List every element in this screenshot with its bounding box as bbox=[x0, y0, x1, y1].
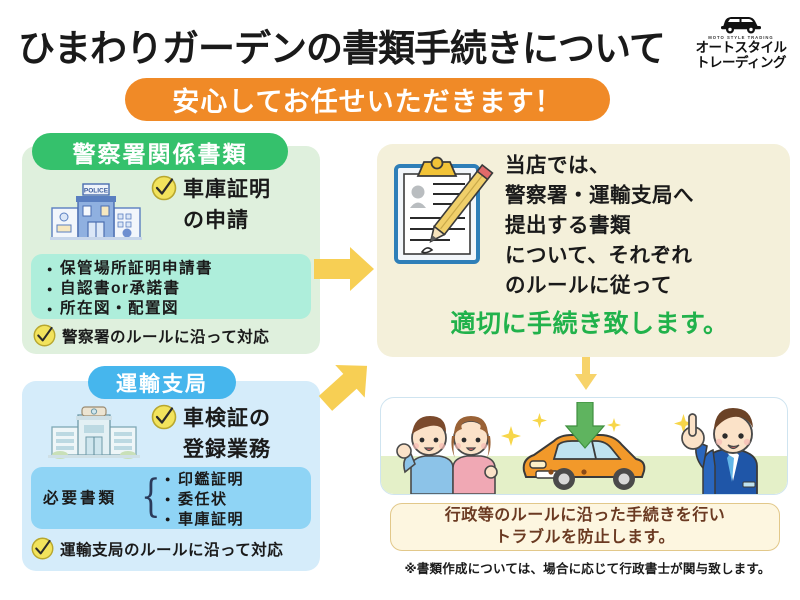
police-footer: 警察署のルールに沿って対応 bbox=[32, 323, 317, 348]
main-message-card: 当店では、 警察署・運輸支局へ 提出する書類 について、それぞれ のルールに従っ… bbox=[377, 144, 790, 357]
sparkle-icon bbox=[607, 418, 621, 432]
staff-man-icon bbox=[669, 404, 779, 495]
police-heading-line-1: 車庫証明 bbox=[183, 174, 271, 205]
result-line: 行政等のルールに沿った手続きを行い bbox=[445, 505, 726, 527]
list-item: 所在図・配置図 bbox=[47, 299, 311, 319]
transport-required-documents: 必要書類 { 印鑑証明 委任状 車庫証明 bbox=[31, 467, 311, 529]
header: ひまわりガーデンの書類手続きについて MOTO STYLE TRADING オー… bbox=[0, 0, 800, 128]
brace-decoration: { bbox=[141, 471, 161, 522]
result-line: トラブルを防止します。 bbox=[495, 527, 675, 549]
message-line: 警察署・運輸支局へ bbox=[505, 181, 787, 211]
message-text: 当店では、 警察署・運輸支局へ 提出する書類 について、それぞれ のルールに従っ… bbox=[505, 151, 787, 301]
check-circle-icon bbox=[30, 536, 55, 561]
logo-line1: オートスタイル bbox=[690, 41, 792, 56]
arrow-right-icon bbox=[314, 245, 376, 293]
transport-bureau-card: 車検証の 登録業務 必要書類 { 印鑑証明 委任状 車庫証明 運輸支局のルールに… bbox=[22, 381, 320, 571]
sparkle-icon bbox=[501, 426, 521, 446]
required-documents-label: 必要書類 bbox=[43, 486, 117, 508]
check-circle-icon bbox=[32, 323, 57, 348]
police-heading-line-2: の申請 bbox=[183, 205, 320, 236]
list-item: 保管場所証明申請書 bbox=[47, 259, 311, 279]
check-circle-icon bbox=[150, 174, 178, 202]
car-icon bbox=[719, 12, 763, 34]
police-section-badge: 警察署関係書類 bbox=[32, 133, 288, 170]
illustration-scene bbox=[380, 397, 788, 495]
result-message-box: 行政等のルールに沿った手続きを行い トラブルを防止します。 bbox=[390, 503, 780, 551]
government-building-icon bbox=[48, 405, 140, 461]
police-document-list: 保管場所証明申請書 自認書or承諾書 所在図・配置図 bbox=[31, 254, 311, 319]
list-item: 印鑑証明 bbox=[165, 470, 244, 490]
sparkle-icon bbox=[532, 413, 547, 428]
police-footer-text: 警察署のルールに沿って対応 bbox=[62, 325, 269, 347]
arrow-up-right-icon bbox=[318, 355, 376, 413]
logo-line2: トレーディング bbox=[690, 56, 792, 71]
message-line: 当店では、 bbox=[505, 151, 787, 181]
message-highlight: 適切に手続き致します。 bbox=[392, 304, 787, 340]
arrow-down-icon bbox=[574, 352, 598, 392]
required-documents-items: 印鑑証明 委任状 車庫証明 bbox=[165, 470, 244, 529]
couple-illustration bbox=[395, 410, 503, 494]
transport-section-badge: 運輸支局 bbox=[88, 366, 236, 399]
subtitle-banner: 安心してお任せいただきます！ bbox=[125, 78, 610, 121]
message-line: のルールに従って bbox=[505, 271, 787, 301]
clipboard-pencil-icon bbox=[390, 156, 494, 268]
svg-text:POLICE: POLICE bbox=[84, 188, 109, 195]
transport-footer: 運輸支局のルールに沿って対応 bbox=[30, 536, 320, 561]
police-station-icon: POLICE bbox=[50, 178, 142, 242]
check-circle-icon bbox=[150, 403, 178, 431]
list-item: 車庫証明 bbox=[165, 510, 244, 530]
message-line: について、それぞれ bbox=[505, 241, 787, 271]
police-documents-card: POLICE 車庫証明 の申請 保管場所証明申請書 自認書or承諾書 所在図・配… bbox=[22, 146, 320, 354]
green-arrow-down-icon bbox=[564, 402, 606, 450]
brand-logo: MOTO STYLE TRADING オートスタイル トレーディング bbox=[690, 12, 792, 71]
transport-footer-text: 運輸支局のルールに沿って対応 bbox=[60, 538, 283, 560]
transport-heading-line-2: 登録業務 bbox=[183, 434, 325, 465]
transport-heading-line-1: 車検証の bbox=[183, 403, 271, 434]
police-heading: 車庫証明 の申請 bbox=[150, 174, 320, 236]
message-line: 提出する書類 bbox=[505, 211, 787, 241]
transport-heading: 車検証の 登録業務 bbox=[150, 403, 325, 465]
list-item: 委任状 bbox=[165, 490, 244, 510]
page-title: ひまわりガーデンの書類手続きについて bbox=[18, 18, 688, 72]
footnote-text: ※書類作成については、場合に応じて行政書士が関与致します。 bbox=[390, 558, 785, 577]
list-item: 自認書or承諾書 bbox=[47, 279, 311, 299]
